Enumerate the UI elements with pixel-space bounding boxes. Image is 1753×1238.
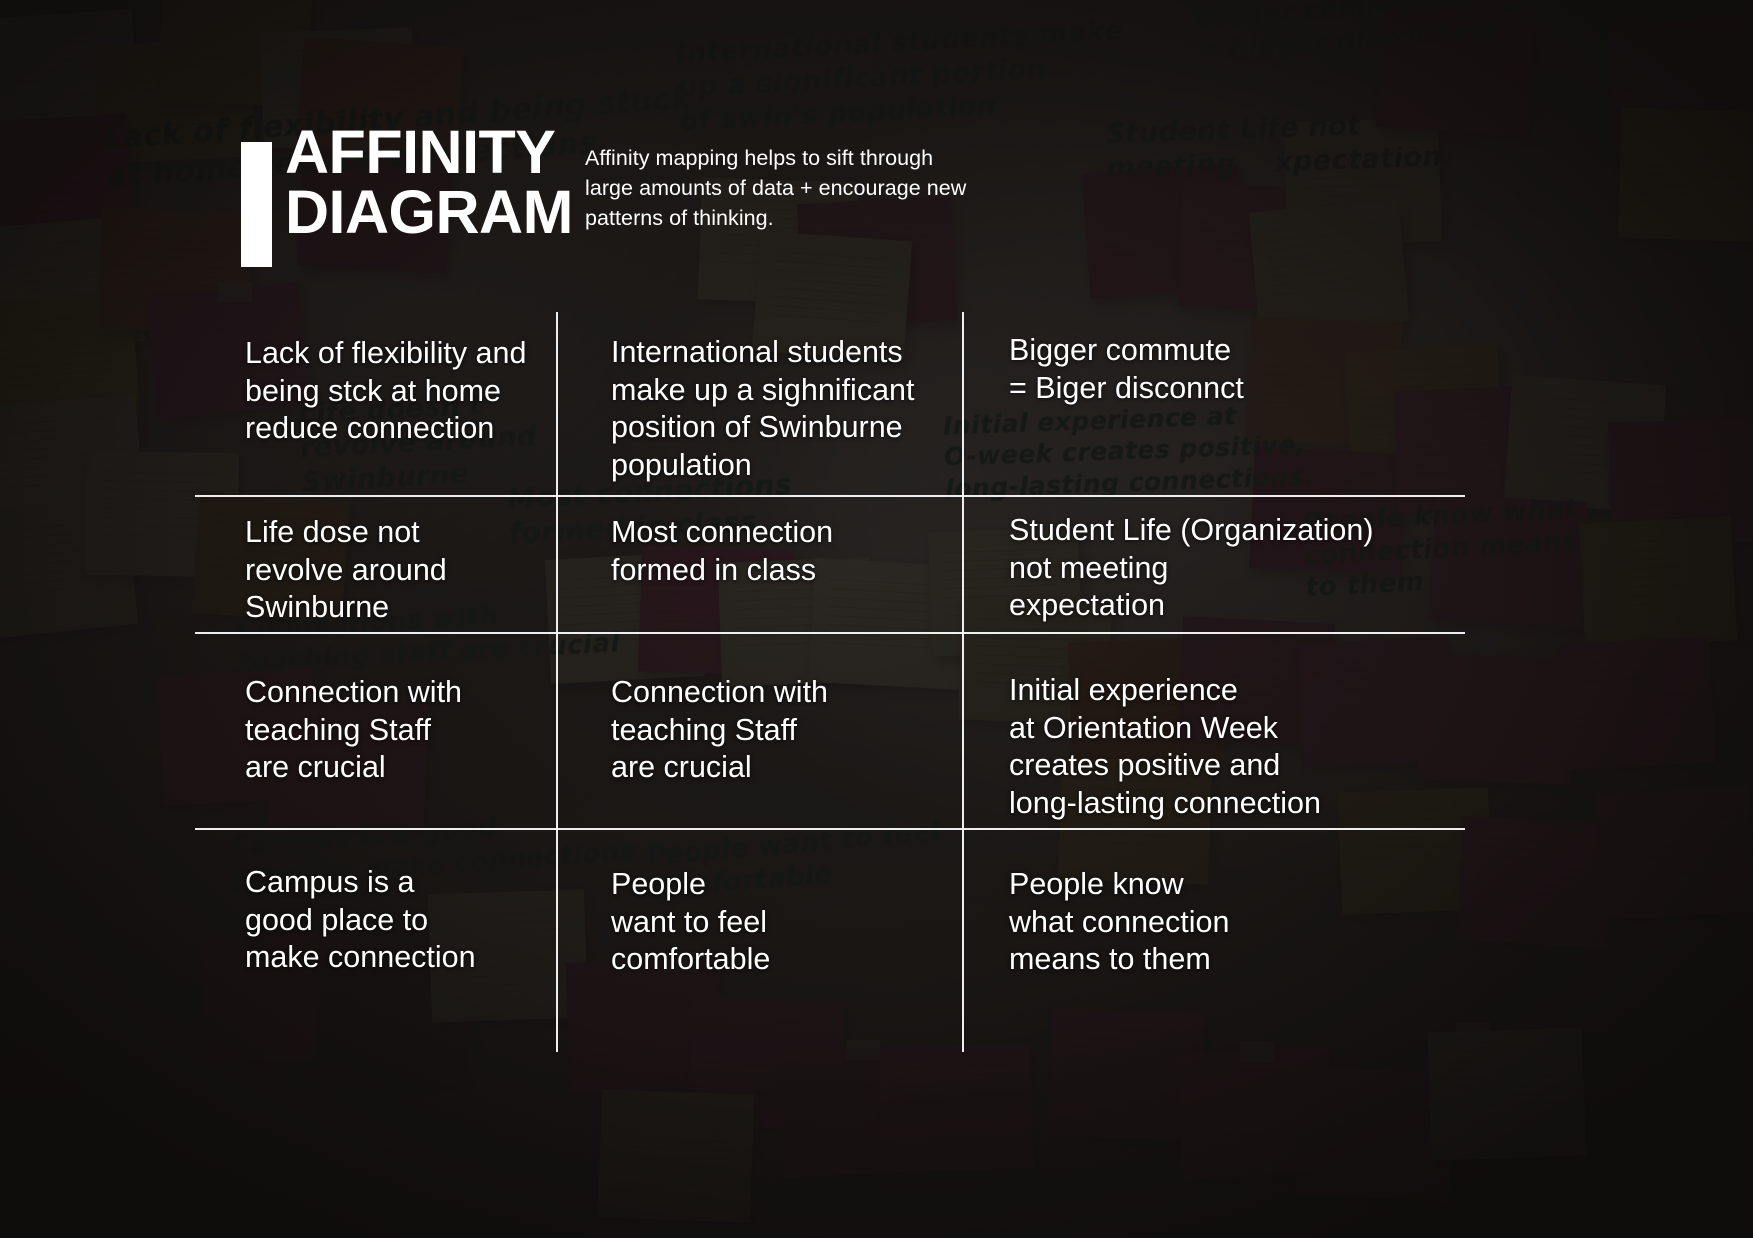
affinity-cell: Initial experience at Orientation Week c… [1009,672,1449,823]
affinity-cell: Campus is a good place to make connectio… [245,864,555,977]
affinity-cell: International students make up a sighnif… [611,334,951,485]
grid-divider-horizontal-1 [195,495,1465,497]
grid-divider-horizontal-3 [195,828,1465,830]
grid-divider-vertical-1 [556,312,558,1052]
affinity-grid: Lack of flexibility and being stck at ho… [195,312,1465,1052]
page-subtitle: Affinity mapping helps to sift through l… [585,144,975,234]
affinity-cell: Student Life (Organization) not meeting … [1009,512,1449,625]
accent-bar [241,142,272,267]
affinity-cell: Lack of flexibility and being stck at ho… [245,335,555,448]
affinity-cell: Life dose not revolve around Swinburne [245,514,555,627]
affinity-cell: People want to feel comfortable [611,866,951,979]
affinity-diagram-poster: Lack of flexibility and being stuck at h… [0,0,1753,1238]
grid-divider-horizontal-2 [195,632,1465,634]
grid-divider-vertical-2 [962,312,964,1052]
affinity-cell: Connection with teaching Staff are cruci… [611,674,951,787]
page-title: AFFINITY DIAGRAM [285,122,573,243]
affinity-cell: Connection with teaching Staff are cruci… [245,674,555,787]
affinity-cell: Most connection formed in class [611,514,951,589]
poster-content: AFFINITY DIAGRAM Affinity mapping helps … [0,0,1753,1238]
poster-header: AFFINITY DIAGRAM Affinity mapping helps … [241,128,1241,278]
affinity-cell: Bigger commute = Biger disconnct [1009,332,1439,407]
affinity-cell: People know what connection means to the… [1009,866,1449,979]
